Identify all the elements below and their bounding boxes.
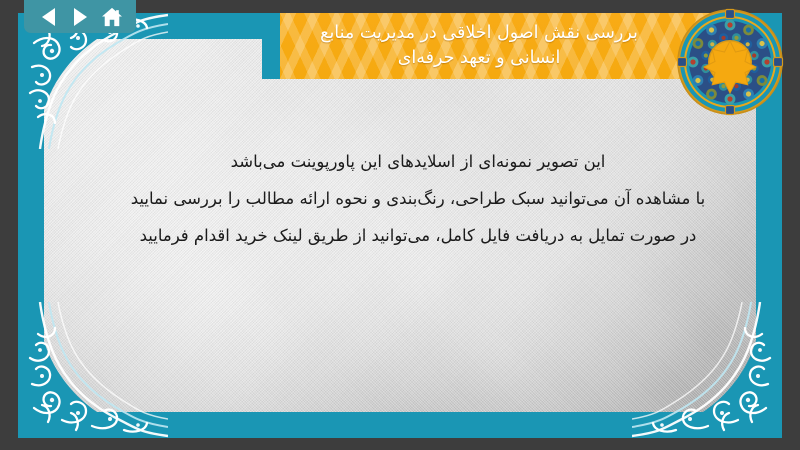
forward-arrow-icon <box>74 8 87 26</box>
body-line-2: با مشاهده آن می‌توانید سبک طراحی، رنگ‌بن… <box>58 180 778 217</box>
body-line-1: این تصویر نمونه‌ای از اسلایدهای این پاور… <box>58 143 778 180</box>
slide-navigation-bar <box>24 0 136 33</box>
slide-body-text: این تصویر نمونه‌ای از اسلایدهای این پاور… <box>58 143 778 254</box>
back-arrow-icon <box>42 8 55 26</box>
slide-title: بررسی نقش اصول اخلاقی در مدیریت منابع ان… <box>269 21 689 72</box>
home-icon <box>101 7 123 27</box>
forward-button[interactable] <box>69 6 91 28</box>
home-button[interactable] <box>101 6 123 28</box>
screenshot-root: این تصویر نمونه‌ای از اسلایدهای این پاور… <box>0 0 800 450</box>
banner-teal-edge <box>262 13 280 79</box>
circular-mandala-rosette-icon <box>676 8 784 116</box>
body-line-3: در صورت تمایل به دریافت فایل کامل، می‌تو… <box>58 217 778 254</box>
back-button[interactable] <box>37 6 59 28</box>
slide-title-banner: بررسی نقش اصول اخلاقی در مدیریت منابع ان… <box>262 13 732 79</box>
